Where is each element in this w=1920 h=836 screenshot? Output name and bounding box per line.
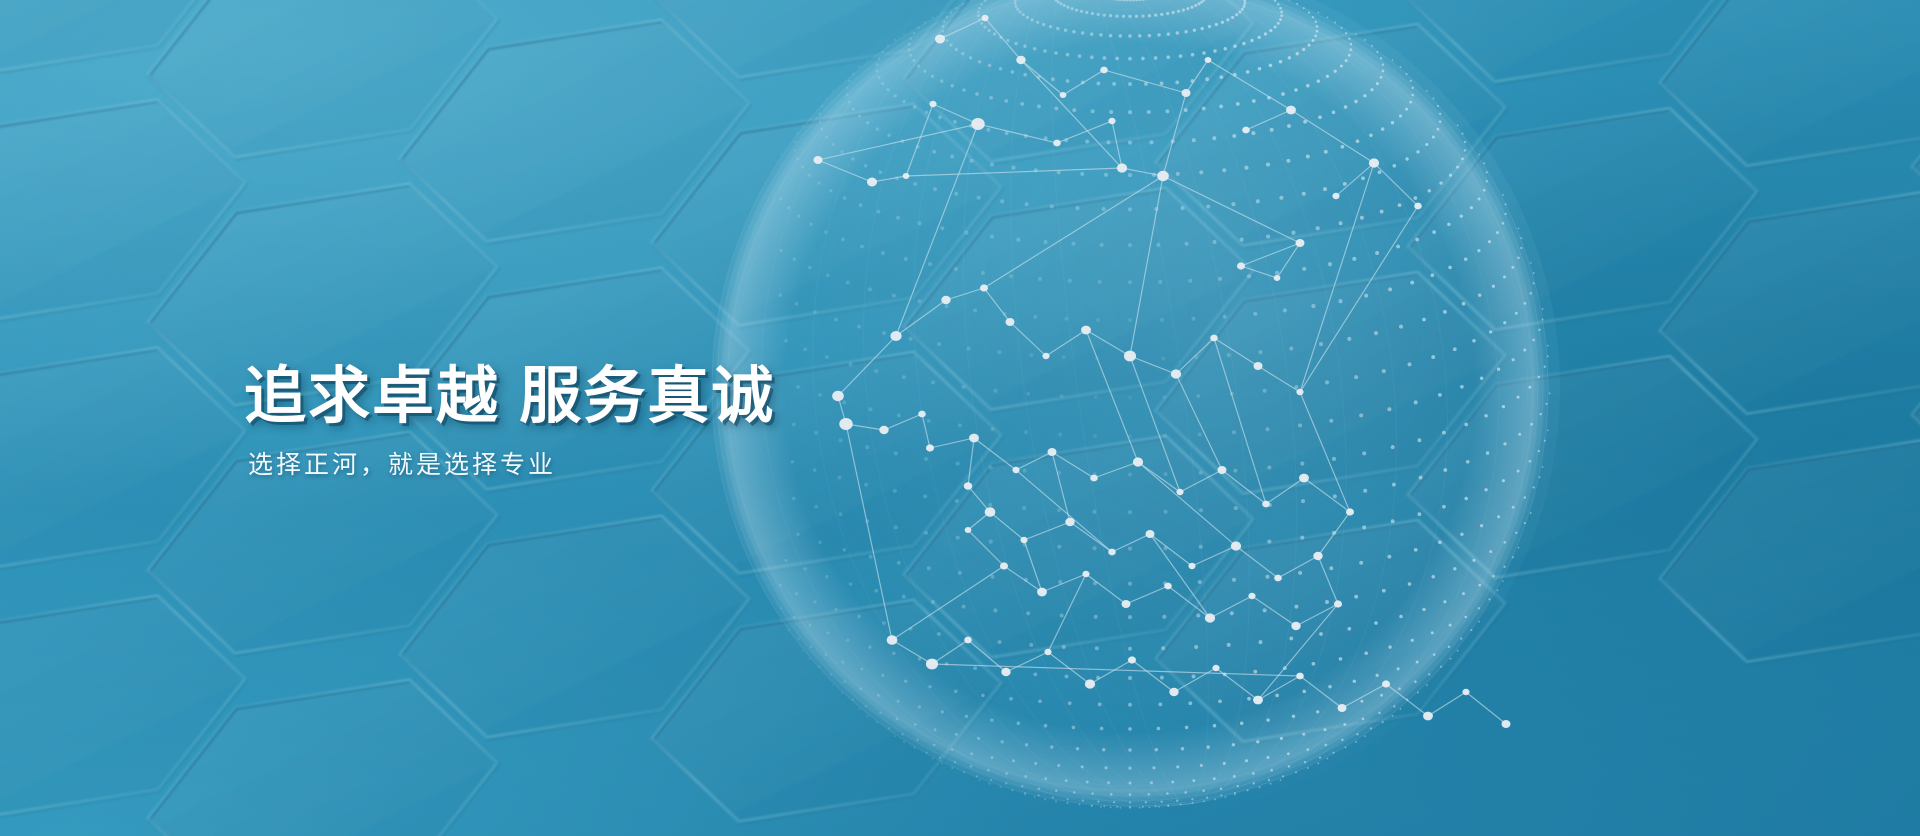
page-subtitle: 选择正河，就是选择专业	[248, 449, 775, 482]
globe-dot-grid	[779, 0, 1551, 809]
globe-glow	[700, 0, 1560, 818]
page-title: 追求卓越 服务真诚	[244, 362, 775, 431]
globe-rim	[710, 0, 1550, 808]
hero-banner: 追求卓越 服务真诚 选择正河，就是选择专业	[0, 0, 1920, 836]
hero-text-block: 追求卓越 服务真诚 选择正河，就是选择专业	[244, 362, 775, 482]
network-links	[818, 18, 1506, 724]
network-nodes	[814, 15, 1511, 728]
globe-meridian-lines	[708, 0, 1553, 836]
